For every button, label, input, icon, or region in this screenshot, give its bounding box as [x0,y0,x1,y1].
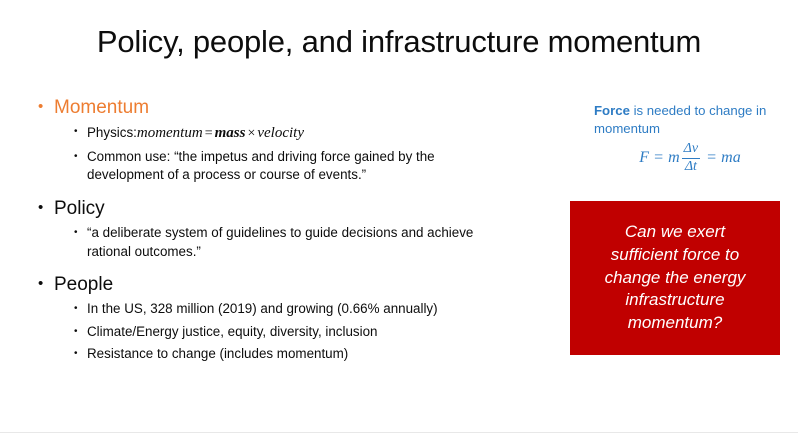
equation-f-symbol: F [639,149,649,167]
formula-momentum-term: momentum [137,125,203,141]
equation-ma-term: ma [721,149,741,167]
bullet-content-column: • Momentum • Physics:momentum=mass×veloc… [38,96,538,374]
equation-equals-1: = [649,149,668,167]
bullet-group-people: • People • In the US, 328 million (2019)… [38,273,538,364]
formula-velocity-term: velocity [257,125,304,141]
physics-label: Physics: [87,125,137,140]
formula-mass-bold: mass [215,125,246,141]
bullet-dot-icon: • [74,123,87,141]
bullet-group-momentum: • Momentum • Physics:momentum=mass×veloc… [38,96,538,185]
bullet-heading-label: Policy [54,197,105,220]
people-population-text: In the US, 328 million (2019) and growin… [87,300,438,319]
formula-mass-term: mass [215,125,246,141]
bullet-heading-people: • People [38,273,538,296]
callout-text: Can we exert sufficient force to change … [605,221,746,334]
equation-m-symbol: m [668,149,680,167]
bullet-dot-icon: • [38,197,54,219]
force-keyword: Force [594,103,630,118]
slide-canvas: Policy, people, and infrastructure momen… [0,0,798,433]
people-resistance-text: Resistance to change (includes momentum) [87,345,348,364]
bullet-heading-label: People [54,273,113,296]
callout-line: momentum? [605,312,746,335]
callout-box-question: Can we exert sufficient force to change … [570,201,780,355]
list-item: • Climate/Energy justice, equity, divers… [74,323,538,342]
equation-fraction-denominator: Δt [682,158,700,175]
equation-equals-2: = [702,149,721,167]
page-title: Policy, people, and infrastructure momen… [0,24,798,60]
list-item: • “a deliberate system of guidelines to … [74,224,538,261]
bullet-dot-icon: • [74,148,87,166]
list-item-physics-formula: • Physics:momentum=mass×velocity [74,123,538,144]
bullet-heading-policy: • Policy [38,197,538,220]
formula-equals-sign: = [203,126,215,141]
bullet-dot-icon: • [74,224,87,242]
callout-line: sufficient force to [605,244,746,267]
physics-formula-line: Physics:momentum=mass×velocity [87,123,304,144]
formula-times-sign: × [245,126,257,141]
bullet-dot-icon: • [38,273,54,295]
bullet-group-policy: • Policy • “a deliberate system of guide… [38,197,538,261]
policy-definition-text: “a deliberate system of guidelines to gu… [87,224,507,261]
list-item: • Resistance to change (includes momentu… [74,345,538,364]
people-justice-text: Climate/Energy justice, equity, diversit… [87,323,378,342]
callout-line: Can we exert [605,221,746,244]
bullet-dot-icon: • [74,345,87,363]
list-item: • In the US, 328 million (2019) and grow… [74,300,538,319]
force-note-text: Force is needed to change in momentum [594,102,784,137]
equation-fraction: Δv Δt [681,142,701,174]
bullet-dot-icon: • [74,300,87,318]
callout-line: change the energy [605,267,746,290]
callout-line: infrastructure [605,289,746,312]
equation-fraction-numerator: Δv [681,142,701,158]
bullet-heading-momentum: • Momentum [38,96,538,119]
bullet-dot-icon: • [74,323,87,341]
bullet-dot-icon: • [38,96,54,118]
force-equation: F = m Δv Δt = ma [600,142,780,174]
list-item-common-use: • Common use: “the impetus and driving f… [74,148,538,185]
common-use-text: Common use: “the impetus and driving for… [87,148,507,185]
bullet-heading-label: Momentum [54,96,149,119]
